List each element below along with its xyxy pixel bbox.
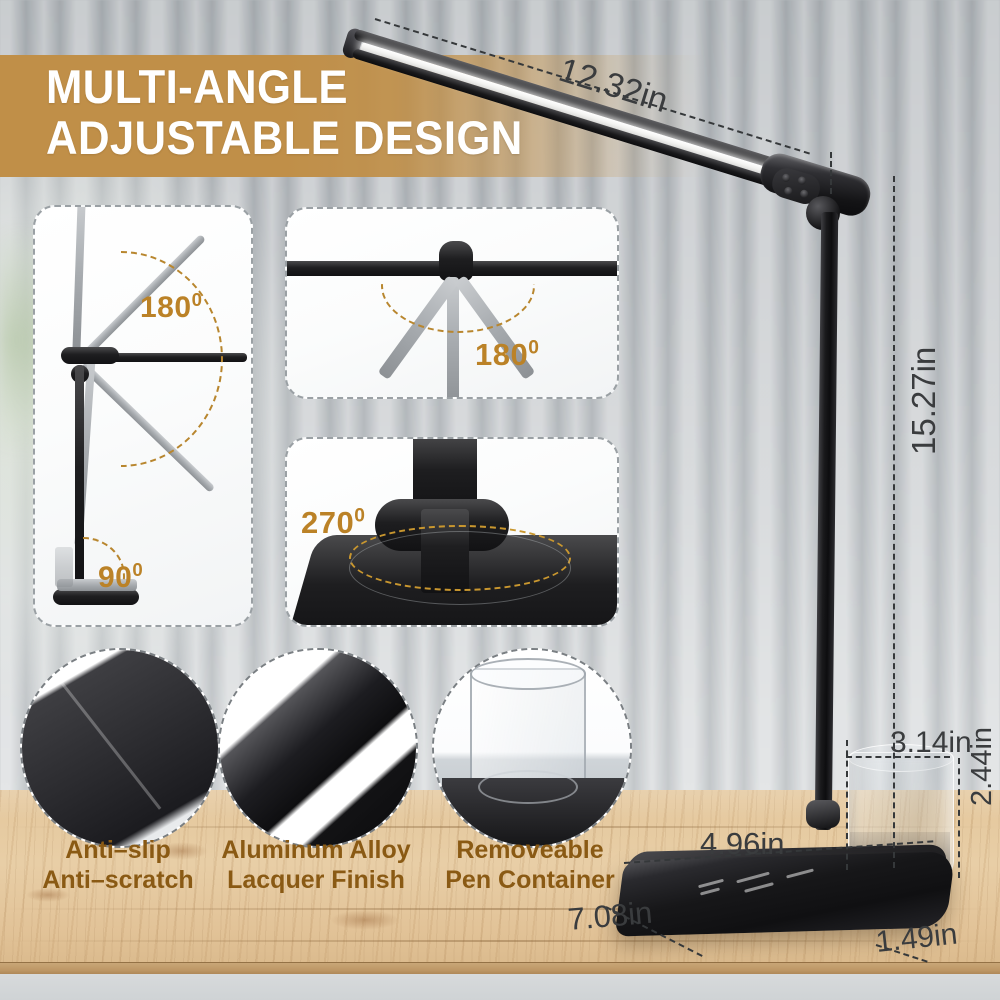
angle-label-90: 900 (98, 559, 143, 595)
aluminum-arm-image (220, 650, 416, 846)
angle-label-180: 1800 (140, 289, 202, 325)
arm-hinge (61, 347, 119, 364)
panel-base-swivel: 2700 (285, 437, 619, 627)
infographic-canvas: MULTI-ANGLE ADJUSTABLE DESIGN 12.32in 15… (0, 0, 1000, 1000)
angle-label-180: 1800 (475, 337, 539, 373)
dimension-label-total-height: 15.27in (905, 347, 943, 455)
panel-head-rotation: 1800 (285, 207, 619, 399)
head-center-hub (439, 241, 473, 281)
dimension-label-pen-width: 3.14in (890, 726, 972, 760)
caption-line-2: Lacquer Finish (206, 866, 426, 896)
caption-line-1: Aluminum Alloy (206, 836, 426, 866)
caption-line-1: Anti–slip (8, 836, 228, 866)
dimension-line-total-height (893, 176, 895, 868)
panel-side-view: 1800 900 (33, 205, 253, 627)
feature-circle-aluminum-alloy (218, 648, 418, 848)
head-bar-left (285, 261, 447, 276)
dimension-label-pen-height: 2.44in (966, 727, 999, 806)
caption-line-1: Removeable (420, 836, 640, 866)
dimension-tick-pen-left (846, 740, 848, 870)
feature-caption-aluminum-alloy: Aluminum Alloy Lacquer Finish (206, 836, 426, 895)
head-bar-right (465, 261, 619, 276)
ghost-arm-up (72, 205, 85, 351)
anti-slip-base-image (22, 650, 218, 846)
pen-holder (55, 547, 73, 587)
lamp-base-hinge (806, 800, 840, 828)
feature-caption-pen-container: Removeable Pen Container (420, 836, 640, 895)
feature-circle-pen-container (432, 648, 632, 848)
dimension-tick-head-end (830, 152, 832, 194)
feature-circle-anti-slip (20, 648, 220, 848)
angle-label-270: 2700 (301, 505, 365, 541)
pole (75, 365, 84, 593)
dimension-label-base-depth: 4.96in (700, 826, 784, 862)
floor-strip (0, 974, 1000, 1000)
caption-line-2: Anti–scratch (8, 866, 228, 896)
swivel-ring-outline (349, 531, 571, 605)
dimension-label-base-width: 7.08in (566, 895, 653, 938)
caption-line-2: Pen Container (420, 866, 640, 896)
dimension-line-pen-height (958, 758, 960, 878)
feature-caption-anti-slip: Anti–slip Anti–scratch (8, 836, 228, 895)
